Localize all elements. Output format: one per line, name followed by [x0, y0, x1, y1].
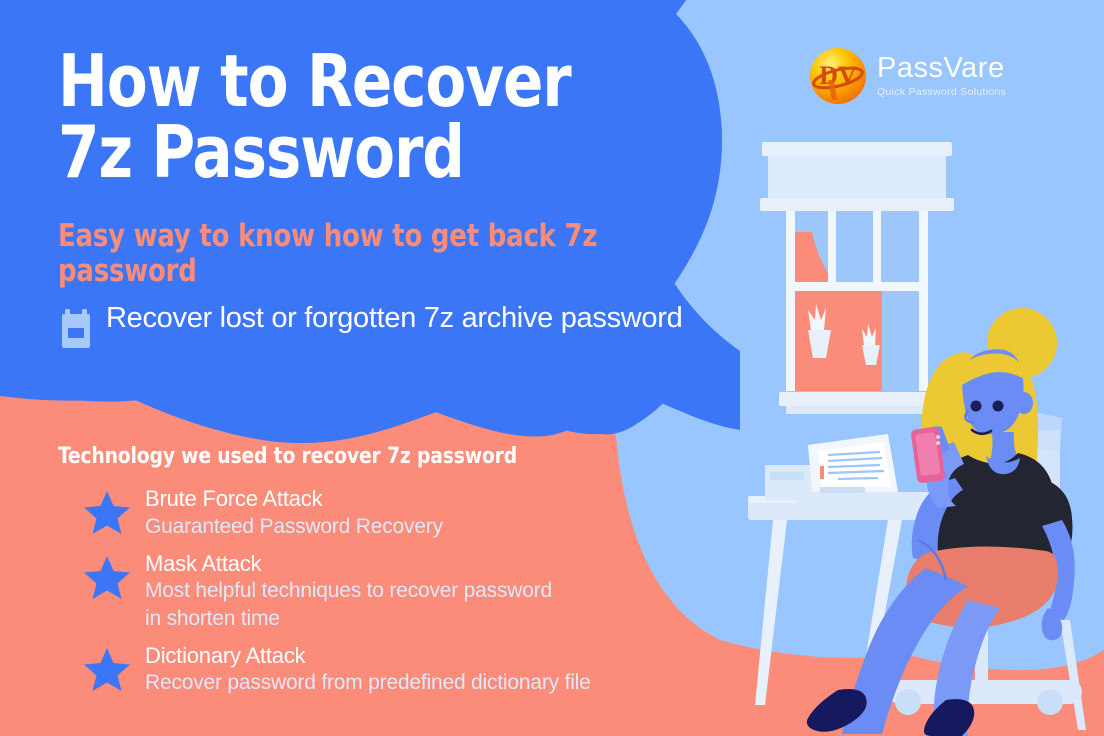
attack-name: Brute Force Attack	[145, 485, 443, 513]
headline-block: How to Recover 7z Password Easy way to k…	[58, 46, 698, 350]
title-line-2: 7z Password	[58, 110, 464, 194]
attack-description: Recover password from predefined diction…	[145, 669, 591, 696]
star-icon	[83, 554, 131, 600]
window-mullion-v1	[786, 211, 795, 391]
brand-logo[interactable]: DV PassVare Quick Password Solutions	[808, 46, 1006, 106]
chair-wheel-left	[895, 689, 921, 715]
eye-left	[971, 401, 982, 412]
window-illustration	[760, 142, 954, 414]
star-icon	[83, 489, 131, 535]
subtitle: Easy way to know how to get back 7z pass…	[58, 219, 700, 291]
passvare-badge-icon: DV	[808, 46, 868, 106]
list-item[interactable]: Brute Force Attack Guaranteed Password R…	[58, 485, 758, 540]
laptop-base	[795, 492, 944, 503]
list-item[interactable]: Dictionary Attack Recover password from …	[58, 642, 758, 697]
window-mullion-v2	[828, 211, 836, 289]
window-sill-lip	[786, 406, 928, 414]
list-item[interactable]: Mask Attack Most helpful techniques to r…	[58, 550, 758, 632]
window-mullion-v4	[919, 211, 928, 391]
attack-name: Mask Attack	[145, 550, 565, 578]
chair-wheel-right	[1037, 689, 1063, 715]
ear	[1015, 392, 1033, 414]
window-mullion-h	[786, 282, 928, 291]
infographic-poster: DV PassVare Quick Password Solutions How…	[0, 0, 1104, 736]
page-title: How to Recover 7z Password	[58, 46, 647, 189]
technology-title: Technology we used to recover 7z passwor…	[58, 444, 723, 469]
logo-tagline: Quick Password Solutions	[877, 87, 1006, 98]
eye-right	[993, 401, 1004, 412]
laptop-accent	[820, 466, 824, 479]
logo-name: PassVare	[877, 54, 1006, 83]
lead-text: Recover lost or forgotten 7z archive pas…	[106, 302, 698, 334]
archive-box-icon	[58, 308, 94, 350]
window-cornice-bottom	[760, 198, 954, 211]
attack-description: Most helpful techniques to recover passw…	[145, 577, 565, 632]
technology-section: Technology we used to recover 7z passwor…	[58, 444, 758, 707]
window-cornice-top	[762, 142, 952, 156]
star-icon	[83, 646, 131, 692]
window-sill	[779, 392, 935, 406]
laptop-keyboard-hint	[820, 487, 865, 493]
window-valance	[768, 156, 946, 198]
lead-row: Recover lost or forgotten 7z archive pas…	[58, 302, 698, 350]
attack-description: Guaranteed Password Recovery	[145, 513, 443, 540]
window-mullion-v3	[873, 211, 881, 289]
attack-name: Dictionary Attack	[145, 642, 591, 670]
